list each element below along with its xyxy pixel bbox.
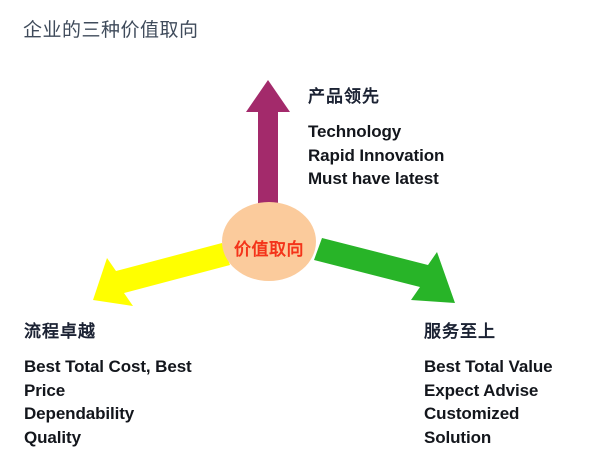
value-hub-circle: 价值取向 [222, 202, 316, 281]
down-left-arrow-icon [93, 243, 230, 306]
branch-service-line-4: Solution [424, 426, 594, 450]
branch-service-lines: Best Total Value Expect Advise Customize… [424, 355, 594, 449]
branch-service-superiority: 服务至上 Best Total Value Expect Advise Cust… [424, 317, 594, 449]
branch-operations-line-3: Quality [24, 426, 254, 450]
branch-operations-line-1: Best Total Cost, Best Price [24, 355, 236, 402]
branch-service-heading: 服务至上 [424, 317, 594, 342]
branch-product-line-1: Technology [308, 120, 508, 144]
value-hub-label: 价值取向 [234, 235, 304, 260]
branch-product-leadership: 产品领先 Technology Rapid Innovation Must ha… [308, 82, 508, 191]
branch-service-line-1: Best Total Value [424, 355, 594, 379]
branch-service-line-2: Expect Advise [424, 379, 594, 403]
down-right-arrow-icon [314, 238, 455, 303]
branch-product-lines: Technology Rapid Innovation Must have la… [308, 120, 508, 191]
branch-operations-line-2: Dependability [24, 402, 254, 426]
branch-product-line-2: Rapid Innovation [308, 144, 508, 168]
diagram-canvas: 企业的三种价值取向 价值取向 产品领先 Technology Rapid Inn… [0, 0, 600, 469]
branch-service-line-3: Customized [424, 402, 594, 426]
branch-product-heading: 产品领先 [308, 82, 508, 107]
branch-operational-excellence: 流程卓越 Best Total Cost, Best Price Dependa… [24, 317, 254, 449]
branch-product-line-3: Must have latest [308, 167, 508, 191]
branch-operations-lines: Best Total Cost, Best Price Dependabilit… [24, 355, 254, 449]
branch-operations-heading: 流程卓越 [24, 317, 254, 342]
